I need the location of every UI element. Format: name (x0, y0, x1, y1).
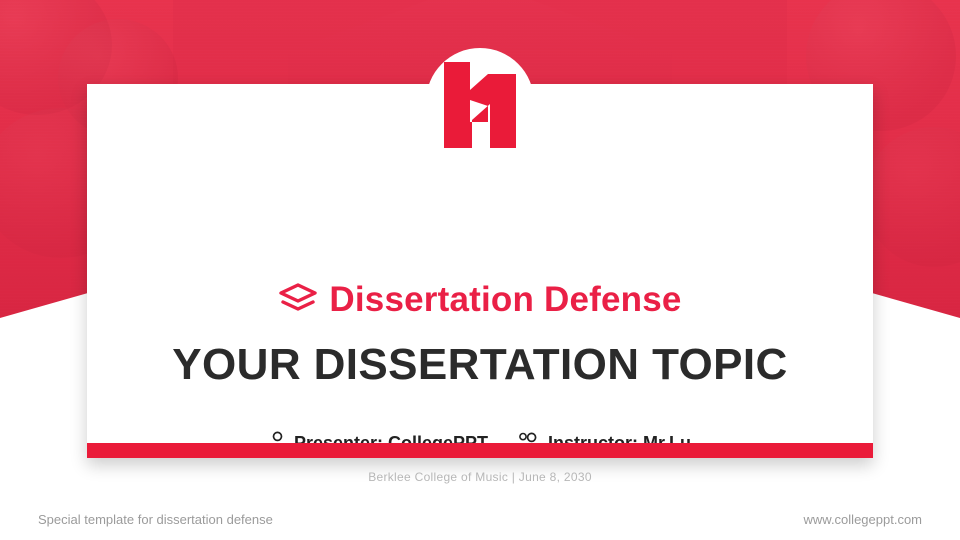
institution-date-meta: Berklee College of Music | June 8, 2030 (87, 470, 873, 484)
eyebrow-row: Dissertation Defense (87, 280, 873, 320)
page-title: YOUR DISSERTATION TOPIC (87, 340, 873, 390)
eyebrow-text: Dissertation Defense (329, 280, 681, 320)
graduation-cap-icon (278, 282, 318, 319)
footer-tagline: Special template for dissertation defens… (38, 512, 273, 527)
footer-website: www.collegeppt.com (804, 512, 923, 527)
university-monogram-logo-icon (436, 60, 524, 155)
logo (426, 48, 534, 160)
presentation-slide: Dissertation Defense YOUR DISSERTATION T… (0, 0, 960, 540)
card-accent-bar (87, 443, 873, 458)
